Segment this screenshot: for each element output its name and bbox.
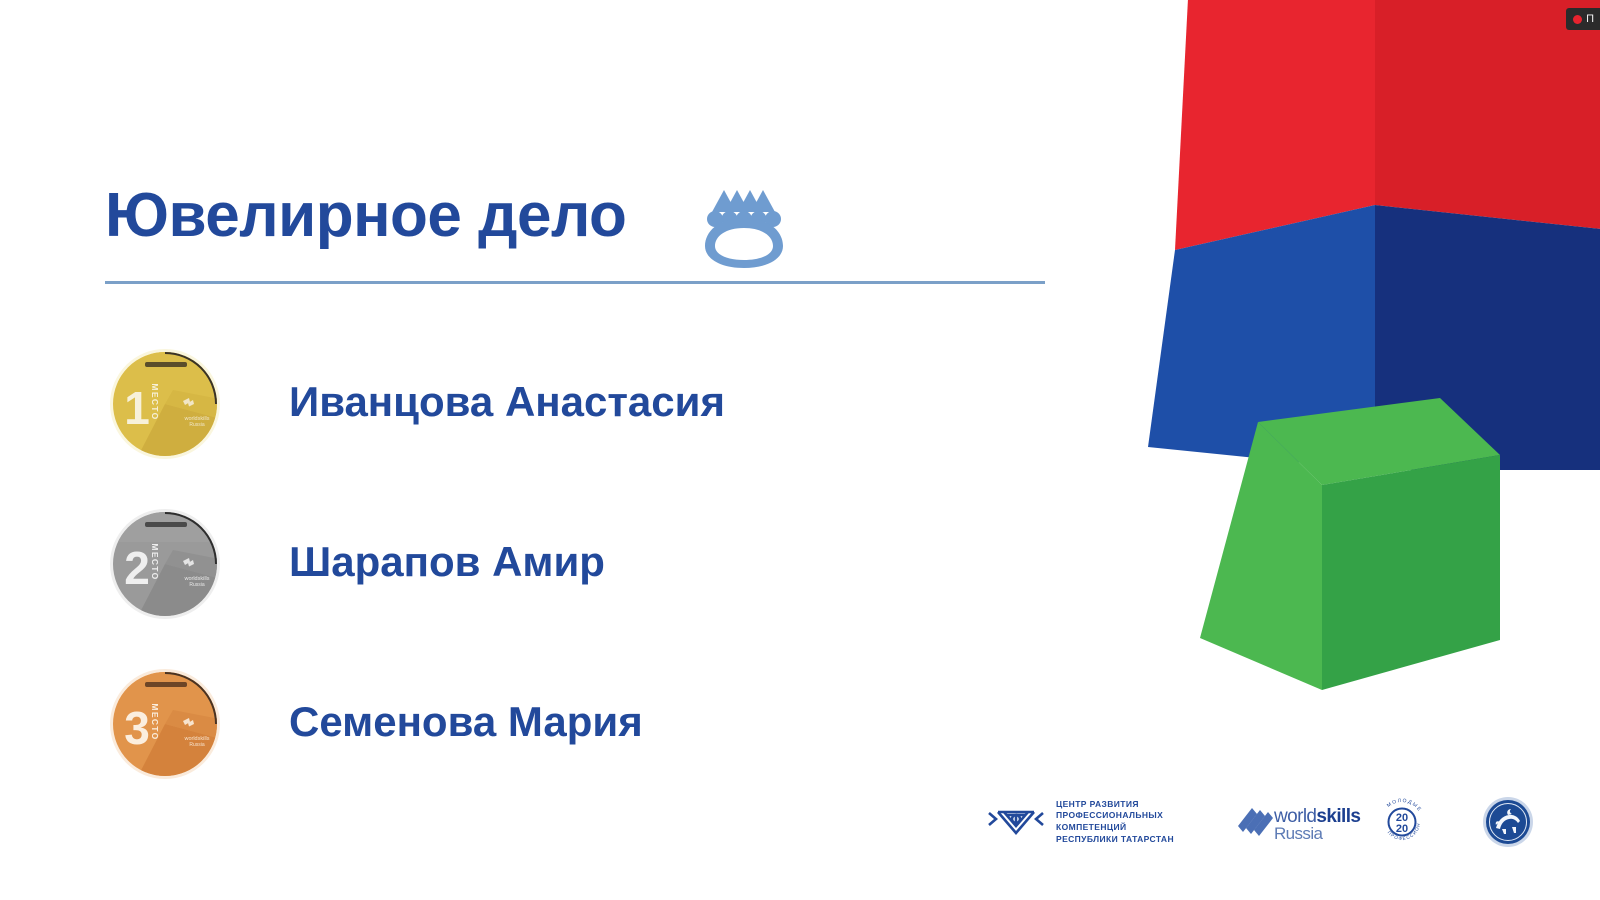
- svg-text:Russia: Russia: [189, 422, 205, 428]
- crpk-diamond-icon: [985, 801, 1047, 843]
- tatarstan-emblem: [1482, 796, 1534, 848]
- recording-badge[interactable]: П: [1566, 8, 1600, 30]
- list-item: 2 МЕСТО worldskills Russia Шарапов Амир: [105, 482, 1005, 642]
- list-item: 1 МЕСТО worldskills Russia Иванцова Анас…: [105, 322, 1005, 482]
- crpk-logo: ЦЕНТР РАЗВИТИЯ ПРОФЕССИОНАЛЬНЫХ КОМПЕТЕН…: [985, 799, 1174, 846]
- worldskills-word-skills: skills: [1316, 806, 1360, 827]
- ring-icon: [696, 164, 792, 268]
- svg-text:Russia: Russia: [189, 582, 205, 588]
- worldskills-mark-icon: [1232, 802, 1276, 842]
- medal-place-number: 3: [124, 702, 150, 754]
- slide-title-row: Ювелирное дело: [105, 168, 792, 264]
- title-divider: [105, 281, 1045, 284]
- gold-medal-icon: 1 МЕСТО worldskills Russia: [105, 342, 225, 462]
- worldskills-word-russia: Russia: [1274, 826, 1360, 842]
- silver-medal-icon: 2 МЕСТО worldskills Russia: [105, 502, 225, 622]
- footer-logos: ЦЕНТР РАЗВИТИЯ ПРОФЕССИОНАЛЬНЫХ КОМПЕТЕН…: [985, 782, 1555, 862]
- worldskills-russia-logo: worldskills Russia: [1232, 802, 1360, 842]
- recording-badge-label: П: [1586, 13, 1594, 25]
- medal-place-label: МЕСТО: [150, 703, 160, 740]
- winner-name: Семенова Мария: [289, 701, 643, 743]
- medal-place-label: МЕСТО: [150, 383, 160, 420]
- page-title: Ювелирное дело: [105, 185, 626, 247]
- svg-text:Russia: Russia: [189, 742, 205, 748]
- molodye-professionaly-2020-logo: 20 20 МОЛОДЫЕ ПРОФЕССИОНАЛЫ: [1374, 794, 1430, 850]
- crpk-logo-text: ЦЕНТР РАЗВИТИЯ ПРОФЕССИОНАЛЬНЫХ КОМПЕТЕН…: [1056, 799, 1174, 846]
- cube-graphic: [1140, 0, 1600, 700]
- presentation-slide: П Ювелирное дело: [0, 0, 1600, 900]
- year-bottom: 20: [1396, 823, 1408, 835]
- record-dot-icon: [1573, 15, 1582, 24]
- list-item: 3 МЕСТО worldskills Russia Семенова Мари…: [105, 642, 1005, 802]
- winner-name: Иванцова Анастасия: [289, 381, 725, 423]
- worldskills-wordmark: worldskills Russia: [1274, 808, 1360, 842]
- winner-name: Шарапов Амир: [289, 541, 605, 583]
- medal-place-label: МЕСТО: [150, 543, 160, 580]
- bronze-medal-icon: 3 МЕСТО worldskills Russia: [105, 662, 225, 782]
- winners-list: 1 МЕСТО worldskills Russia Иванцова Анас…: [105, 322, 1005, 802]
- medal-place-number: 1: [124, 382, 150, 434]
- medal-place-number: 2: [124, 542, 150, 594]
